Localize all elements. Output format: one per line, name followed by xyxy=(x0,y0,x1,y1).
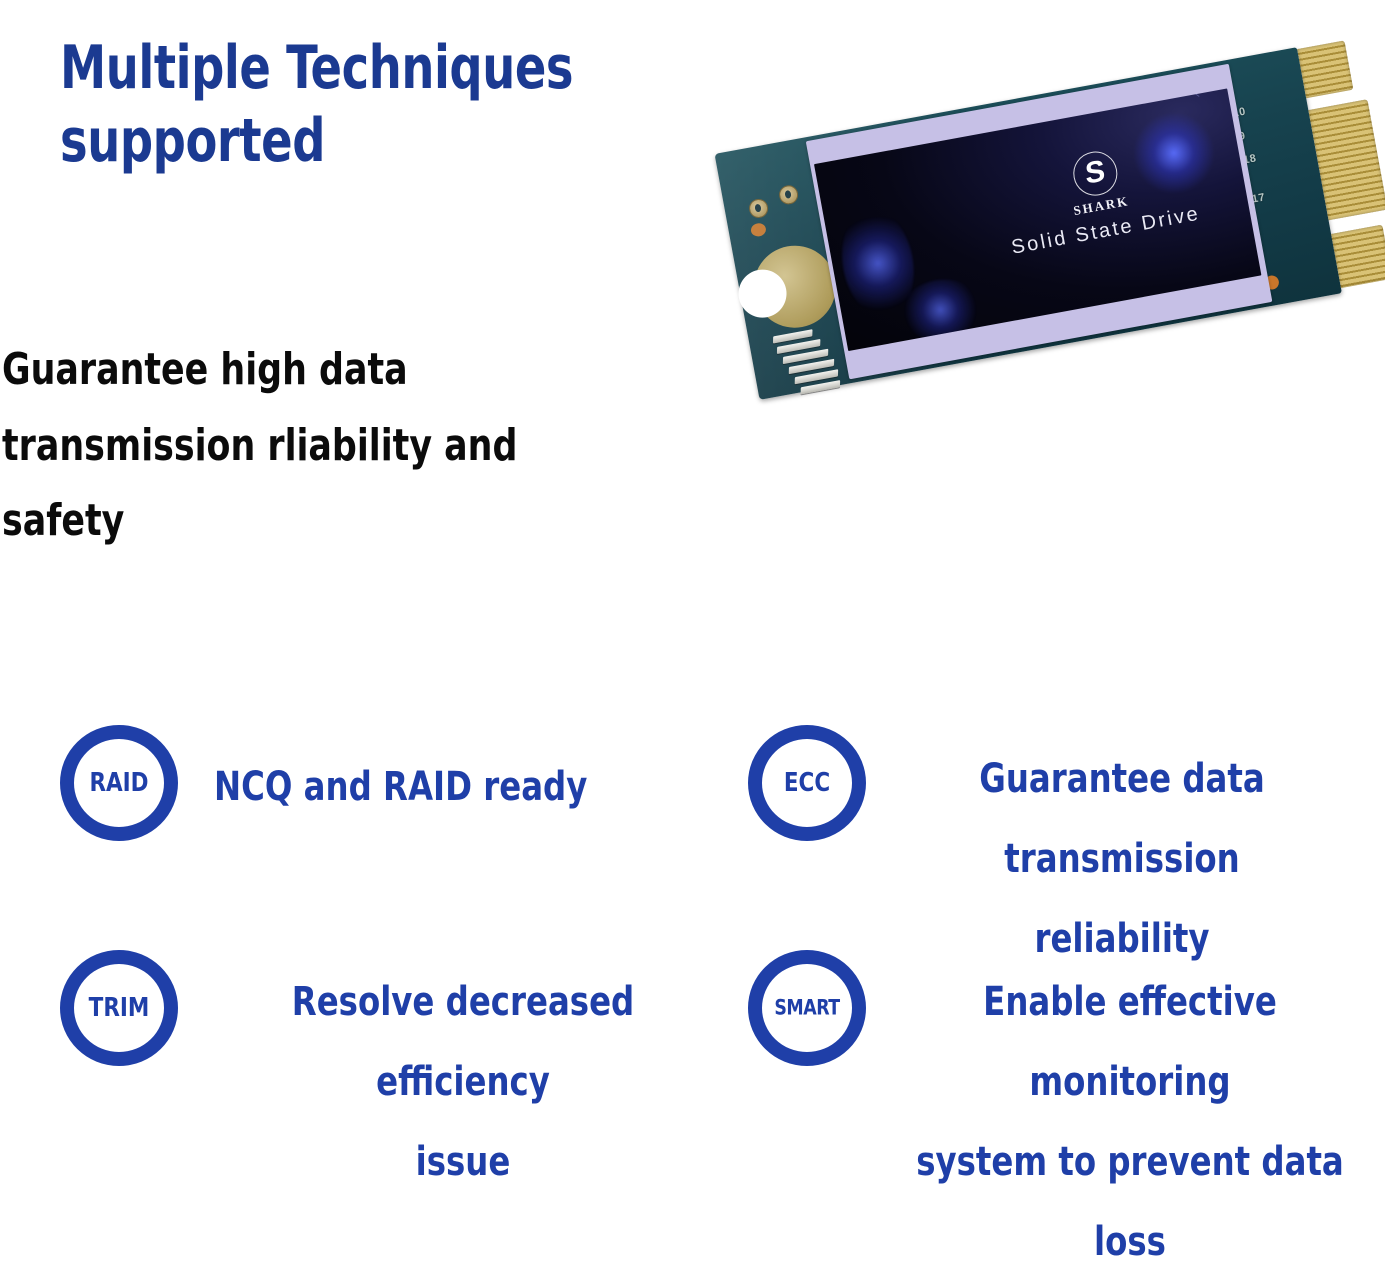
feature-item-ecc[interactable]: ECC Guarantee data transmission reliabil… xyxy=(748,725,1348,979)
page-title: Multiple Techniques supported xyxy=(60,32,593,178)
smart-badge-label: SMART xyxy=(774,998,839,1019)
via-pad-icon xyxy=(748,197,770,219)
feature-item-smart[interactable]: SMART Enable effective monitoring system… xyxy=(748,950,1368,1282)
raid-badge-label: RAID xyxy=(89,770,148,796)
raid-badge-icon: RAID xyxy=(60,725,178,841)
feature-item-trim[interactable]: TRIM Resolve decreased efficiency issue xyxy=(60,950,720,1202)
smart-badge-icon: SMART xyxy=(748,950,866,1066)
logo-letter: S xyxy=(1084,156,1106,190)
trim-badge-icon: TRIM xyxy=(60,950,178,1066)
solder-pad-icon xyxy=(750,222,767,237)
feature-description: Guarantee data transmission reliability xyxy=(919,739,1326,979)
ecc-badge-icon: ECC xyxy=(748,725,866,841)
via-pad-icon xyxy=(778,184,800,206)
feature-list: RAID NCQ and RAID ready ECC Guarantee da… xyxy=(0,700,1385,1118)
feature-description: Enable effective monitoring system to pr… xyxy=(916,962,1344,1282)
product-image-ssd: C18 RD10 RD9 BC18 R17 BC41 xyxy=(700,0,1385,480)
feature-description: NCQ and RAID ready xyxy=(214,747,587,827)
ssd-board: C18 RD10 RD9 BC18 R17 BC41 xyxy=(715,42,1370,400)
feature-description: Resolve decreased efficiency issue xyxy=(232,962,695,1202)
subtitle-text: Guarantee high data transmission rliabil… xyxy=(2,332,618,559)
gold-finger-group xyxy=(1297,40,1353,98)
gold-finger-group xyxy=(1331,225,1385,288)
shark-logo-icon: S xyxy=(1070,148,1121,199)
mounting-notch xyxy=(735,266,791,322)
feature-item-raid[interactable]: RAID NCQ and RAID ready xyxy=(60,725,629,841)
trim-badge-label: TRIM xyxy=(89,995,150,1021)
ecc-badge-label: ECC xyxy=(784,770,830,796)
infographic-canvas: Multiple Techniques supported Guarantee … xyxy=(0,0,1385,1118)
